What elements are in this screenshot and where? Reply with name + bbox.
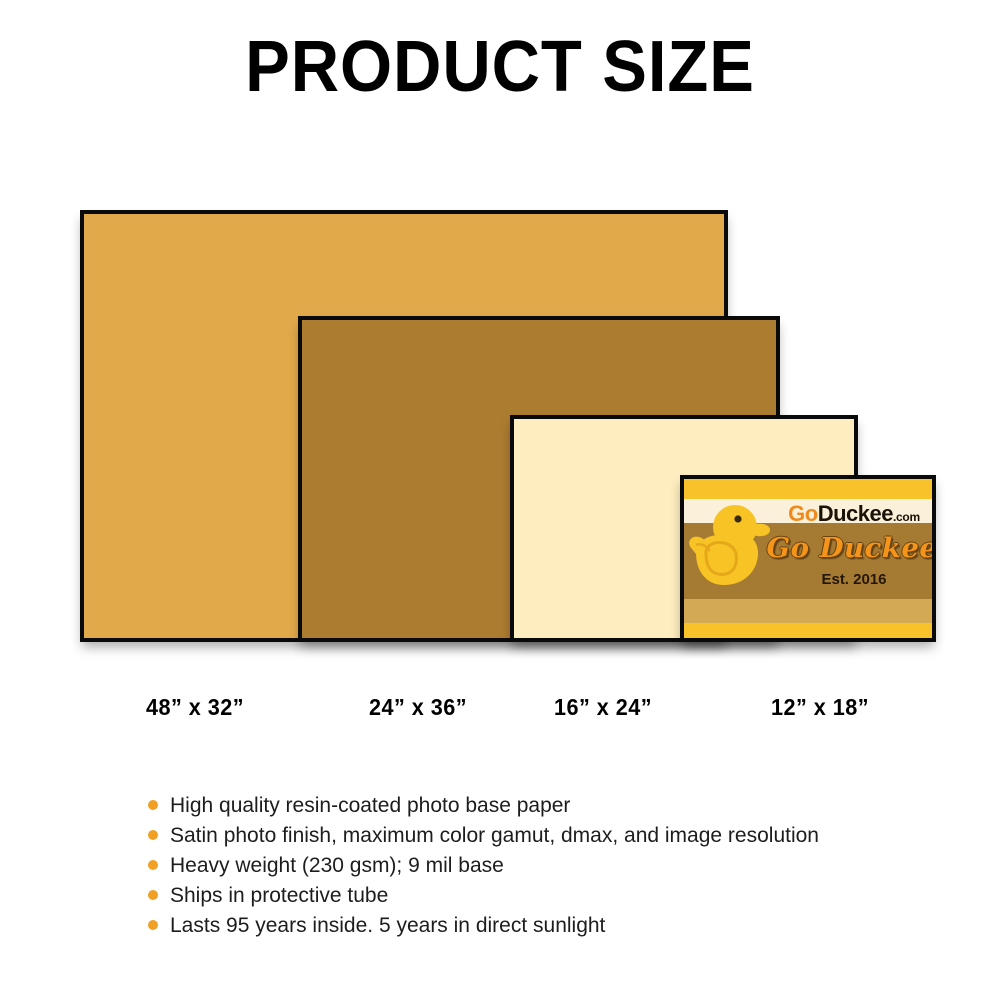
feature-text: Ships in protective tube [170,882,388,909]
rubber-duck-icon [686,501,772,605]
established-text: Est. 2016 [770,571,932,588]
size-label-16x24: 16” x 24” [509,694,697,721]
bullet-icon [148,800,158,810]
size-label-12x18: 12” x 18” [726,694,914,721]
poster-panel-12x18: GoDuckee.com Go Duckee Est. 2016 [680,475,936,642]
logo-band-bottom-yellow [684,623,932,638]
list-item: Heavy weight (230 gsm); 9 mil base [148,852,948,882]
brand-go-text: Go [788,501,818,526]
brand-script-text: Go Duckee [764,533,932,564]
logo-band-top-yellow [684,479,932,499]
feature-text: High quality resin-coated photo base pap… [170,792,570,819]
feature-text: Heavy weight (230 gsm); 9 mil base [170,852,504,879]
list-item: Lasts 95 years inside. 5 years in direct… [148,912,948,942]
feature-text: Lasts 95 years inside. 5 years in direct… [170,912,605,939]
size-label-24x36: 24” x 36” [324,694,512,721]
brand-com-text: .com [893,510,920,524]
feature-text: Satin photo finish, maximum color gamut,… [170,822,819,849]
list-item: Satin photo finish, maximum color gamut,… [148,822,948,852]
brand-duckee-text: Duckee [818,501,893,526]
bullet-icon [148,890,158,900]
bullet-icon [148,920,158,930]
bullet-icon [148,860,158,870]
goduckee-logo-card: GoDuckee.com Go Duckee Est. 2016 [684,479,932,638]
brand-wordmark: GoDuckee.com [770,503,932,525]
list-item: Ships in protective tube [148,882,948,912]
size-label-48x32: 48” x 32” [101,694,289,721]
bullet-icon [148,830,158,840]
list-item: High quality resin-coated photo base pap… [148,792,948,822]
feature-list: High quality resin-coated photo base pap… [148,792,948,942]
